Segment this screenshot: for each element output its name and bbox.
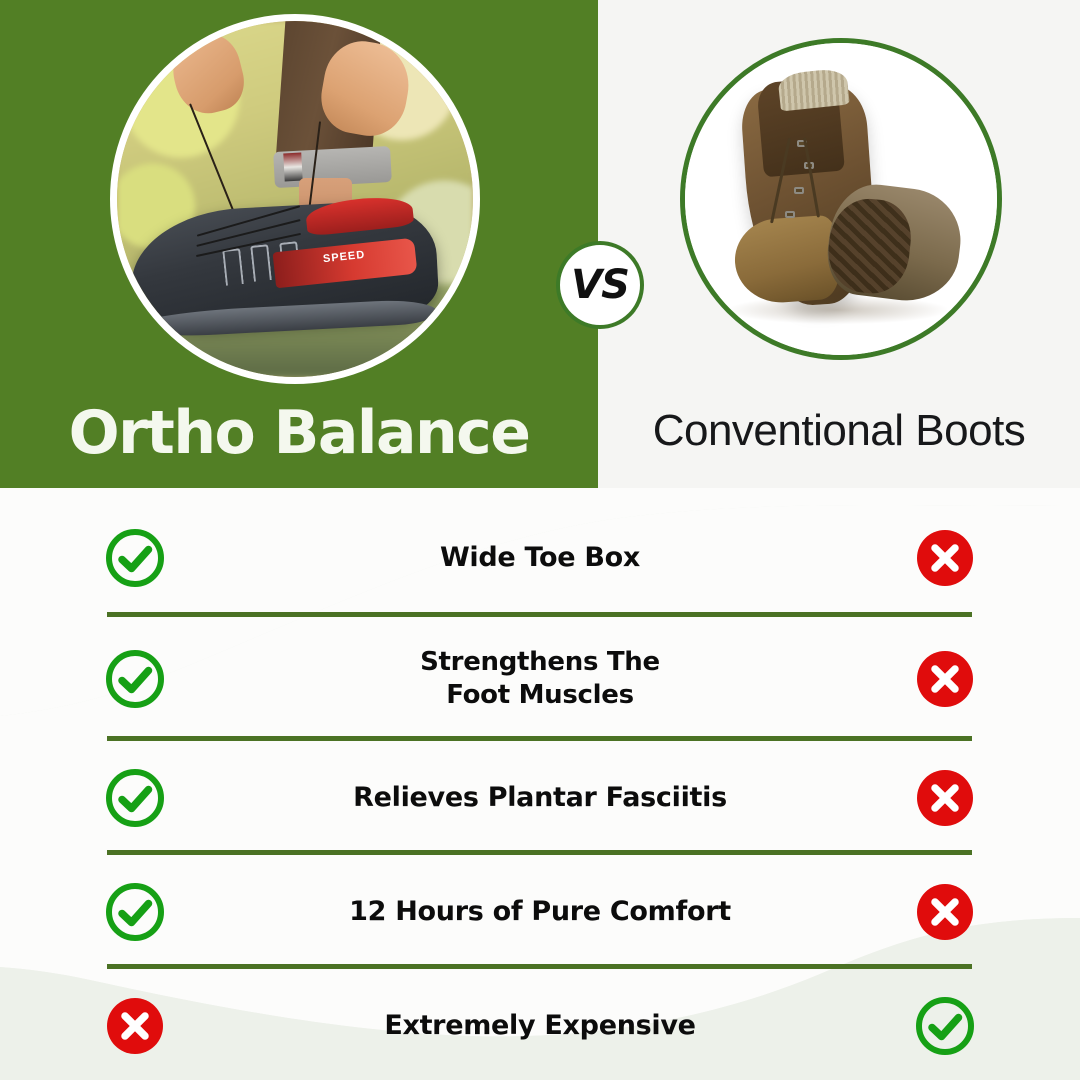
- row-4-conventional-status: [810, 881, 1080, 943]
- boot-eyelet-4: [785, 211, 795, 218]
- row-1-label-line-1: Wide Toe Box: [270, 541, 810, 576]
- row-5-conventional-status: [810, 995, 1080, 1057]
- row-2-label-line-1: Strengthens The: [270, 646, 810, 679]
- row-3-conventional-status: [810, 767, 1080, 829]
- table-row: 12 Hours of Pure Comfort: [0, 860, 1080, 964]
- row-3-label-line-1: Relieves Plantar Fasciitis: [270, 781, 810, 816]
- row-4-ortho-status: [0, 881, 270, 943]
- row-1-conventional-status: [810, 527, 1080, 589]
- table-row: Relieves Plantar Fasciitis: [0, 746, 1080, 850]
- check-circle-icon: [104, 648, 166, 710]
- row-2-label-line-2: Foot Muscles: [270, 679, 810, 712]
- comparison-infographic: SPEED: [0, 0, 1080, 1080]
- row-3-ortho-status: [0, 767, 270, 829]
- row-divider-1: [107, 612, 972, 617]
- boot-ground-shadow: [729, 296, 947, 324]
- cross-circle-icon: [914, 648, 976, 710]
- check-circle-icon: [104, 767, 166, 829]
- cross-circle-icon: [914, 767, 976, 829]
- boot-eyelet-3: [794, 187, 804, 194]
- conventional-boots-photo: [680, 38, 1002, 360]
- row-5-label: Extremely Expensive: [270, 1009, 810, 1044]
- conventional-boots-title: Conventional Boots: [598, 406, 1080, 456]
- row-1-label: Wide Toe Box: [270, 541, 810, 576]
- check-circle-icon: [104, 527, 166, 589]
- check-circle-icon: [914, 995, 976, 1057]
- cross-circle-icon: [104, 995, 166, 1057]
- row-2-conventional-status: [810, 648, 1080, 710]
- row-2-ortho-status: [0, 648, 270, 710]
- table-row: Wide Toe Box: [0, 508, 1080, 608]
- row-5-label-line-1: Extremely Expensive: [270, 1009, 810, 1044]
- check-circle-icon: [104, 881, 166, 943]
- cross-circle-icon: [914, 881, 976, 943]
- row-2-label: Strengthens The Foot Muscles: [270, 646, 810, 713]
- row-divider-3: [107, 850, 972, 855]
- row-5-ortho-status: [0, 995, 270, 1057]
- row-divider-4: [107, 964, 972, 969]
- row-divider-2: [107, 736, 972, 741]
- row-3-label: Relieves Plantar Fasciitis: [270, 781, 810, 816]
- photo-shoe-laces: [195, 220, 302, 263]
- comparison-rows: Wide Toe Box: [0, 488, 1080, 1080]
- cross-circle-icon: [914, 527, 976, 589]
- vs-badge: VS: [556, 241, 644, 329]
- comparison-table-section: Wide Toe Box: [0, 488, 1080, 1080]
- ortho-balance-title: Ortho Balance: [0, 398, 598, 468]
- row-4-label: 12 Hours of Pure Comfort: [270, 895, 810, 930]
- table-row: Strengthens The Foot Muscles: [0, 622, 1080, 736]
- table-row: Extremely Expensive: [0, 974, 1080, 1078]
- vs-label: VS: [571, 262, 629, 308]
- header-section: SPEED: [0, 0, 1080, 488]
- row-4-label-line-1: 12 Hours of Pure Comfort: [270, 895, 810, 930]
- photo-cuff-tag: [284, 152, 303, 181]
- ortho-balance-product-photo: SPEED: [110, 14, 480, 384]
- row-1-ortho-status: [0, 527, 270, 589]
